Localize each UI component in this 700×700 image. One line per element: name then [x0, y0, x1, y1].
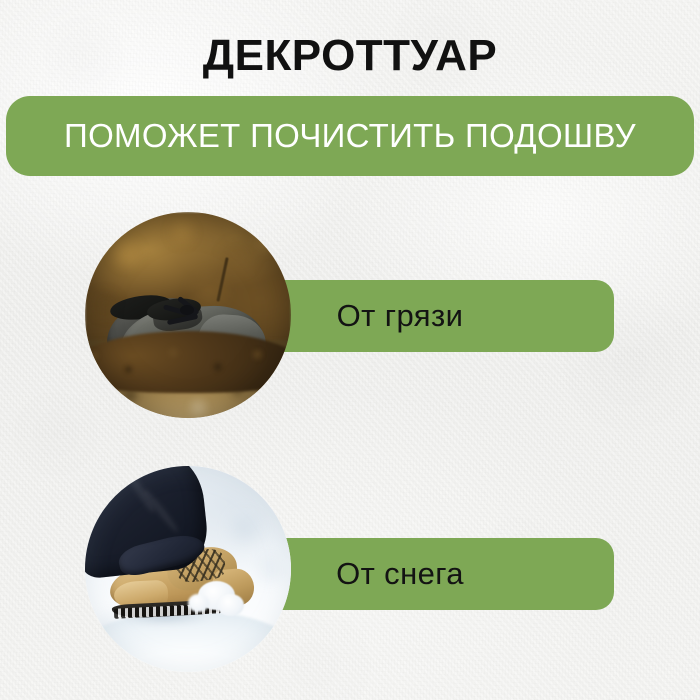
feature-row-snow: От снега [0, 466, 700, 672]
feature-label-snow: От снега [336, 557, 464, 591]
headline-banner-text: ПОМОЖЕТ ПОЧИСТИТЬ ПОДОШВУ [64, 118, 636, 154]
headline-banner: ПОМОЖЕТ ПОЧИСТИТЬ ПОДОШВУ [6, 96, 694, 176]
promo-poster: ДЕКРОТТУАР ПОМОЖЕТ ПОЧИСТИТЬ ПОДОШВУ От … [0, 0, 700, 700]
snow-scene [85, 466, 291, 672]
snow-boot-photo [85, 466, 291, 672]
muddy-shoes-photo [85, 212, 291, 418]
page-title: ДЕКРОТТУАР [0, 30, 700, 82]
mud-photo-vignette [85, 212, 291, 418]
feature-label-mud: От грязи [337, 299, 464, 333]
mud-scene [85, 212, 291, 418]
snow-photo-vignette [85, 466, 291, 672]
feature-row-mud: От грязи [0, 212, 700, 418]
